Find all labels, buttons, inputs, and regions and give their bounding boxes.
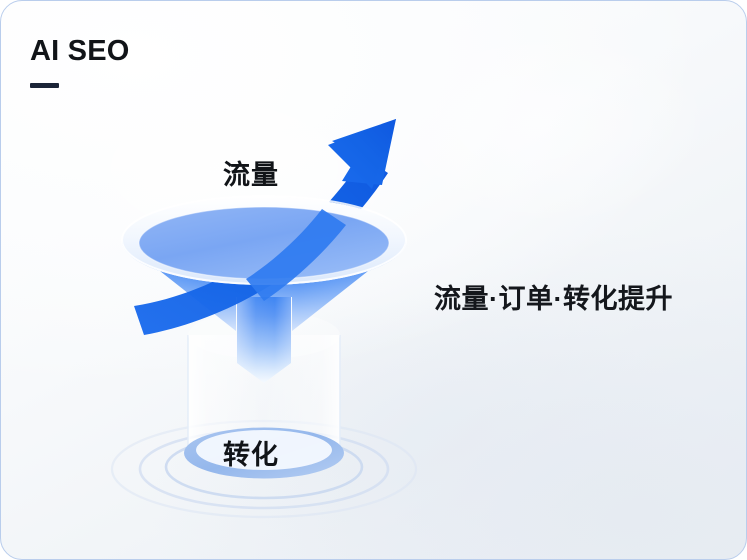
- slide-canvas: AI SEO: [0, 0, 747, 560]
- title-block: AI SEO: [30, 37, 130, 88]
- funnel-label-traffic: 流量: [223, 153, 279, 192]
- title-underline-dash: [30, 83, 59, 88]
- page-title: AI SEO: [30, 37, 130, 66]
- funnel-stem: [237, 287, 291, 383]
- funnel-label-conversion: 转化: [223, 433, 279, 472]
- tagline-text: 流量·订单·转化提升: [434, 277, 673, 316]
